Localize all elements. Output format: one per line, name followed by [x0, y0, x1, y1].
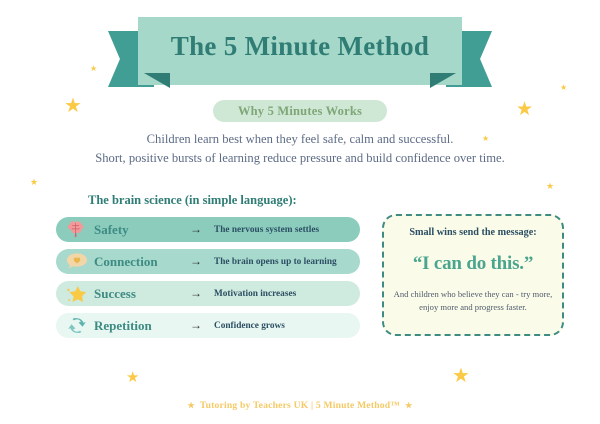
intro-line-2: Short, positive bursts of learning reduc…: [64, 149, 536, 168]
decorative-star-icon: ★: [126, 371, 139, 386]
row-result-label: Motivation increases: [206, 289, 360, 299]
decorative-star-icon: ★: [516, 100, 533, 119]
intro-line-1: Children learn best when they feel safe,…: [64, 130, 536, 149]
decorative-star-icon: ★: [560, 84, 567, 92]
callout-quote-text: “I can do this.”: [393, 253, 553, 275]
decorative-star-icon: ★: [452, 366, 470, 386]
row-result-label: Confidence grows: [206, 321, 360, 331]
brain-science-row: Connection→The brain opens up to learnin…: [56, 249, 360, 274]
arrow-right-icon: →: [186, 286, 206, 301]
brain-science-row: Safety→The nervous system settles: [56, 217, 360, 242]
subtitle-pill: Why 5 Minutes Works: [213, 100, 387, 122]
row-term-label: Repetition: [90, 318, 186, 334]
page-title: The 5 Minute Method: [138, 31, 462, 62]
ribbon-body: The 5 Minute Method: [138, 17, 462, 85]
repeat-icon: [64, 315, 90, 337]
star-icon: [64, 283, 90, 305]
brain-icon: [64, 219, 90, 241]
decorative-star-icon: ★: [30, 178, 38, 187]
row-result-label: The brain opens up to learning: [206, 257, 360, 267]
infographic-canvas: ★★★★★★★★★ The 5 Minute Method Why 5 Minu…: [0, 0, 600, 424]
footer-text: Tutoring by Teachers UK | 5 Minute Metho…: [200, 400, 400, 411]
speech-bubble-heart-icon: [64, 251, 90, 273]
decorative-star-icon: ★: [90, 65, 97, 73]
decorative-star-icon: ★: [546, 182, 554, 191]
decorative-star-icon: ★: [64, 96, 82, 116]
footer-star-left-icon: ★: [188, 401, 195, 410]
row-term-label: Safety: [90, 222, 186, 238]
row-term-label: Connection: [90, 254, 186, 270]
row-term-label: Success: [90, 286, 186, 302]
callout-lead-text: Small wins send the message:: [393, 226, 553, 239]
callout-note-text: And children who believe they can - try …: [393, 288, 553, 313]
arrow-right-icon: →: [186, 254, 206, 269]
brain-science-row: Repetition→Confidence grows: [56, 313, 360, 338]
intro-paragraph: Children learn best when they feel safe,…: [64, 130, 536, 168]
arrow-right-icon: →: [186, 318, 206, 333]
brain-science-row: Success→Motivation increases: [56, 281, 360, 306]
footer-star-right-icon: ★: [405, 401, 412, 410]
footer: ★Tutoring by Teachers UK | 5 Minute Meth…: [0, 400, 600, 411]
row-result-label: The nervous system settles: [206, 225, 360, 235]
callout-box: Small wins send the message: “I can do t…: [382, 214, 564, 336]
section-heading: The brain science (in simple language):: [88, 193, 297, 208]
arrow-right-icon: →: [186, 222, 206, 237]
ribbon-banner: The 5 Minute Method: [108, 17, 492, 89]
